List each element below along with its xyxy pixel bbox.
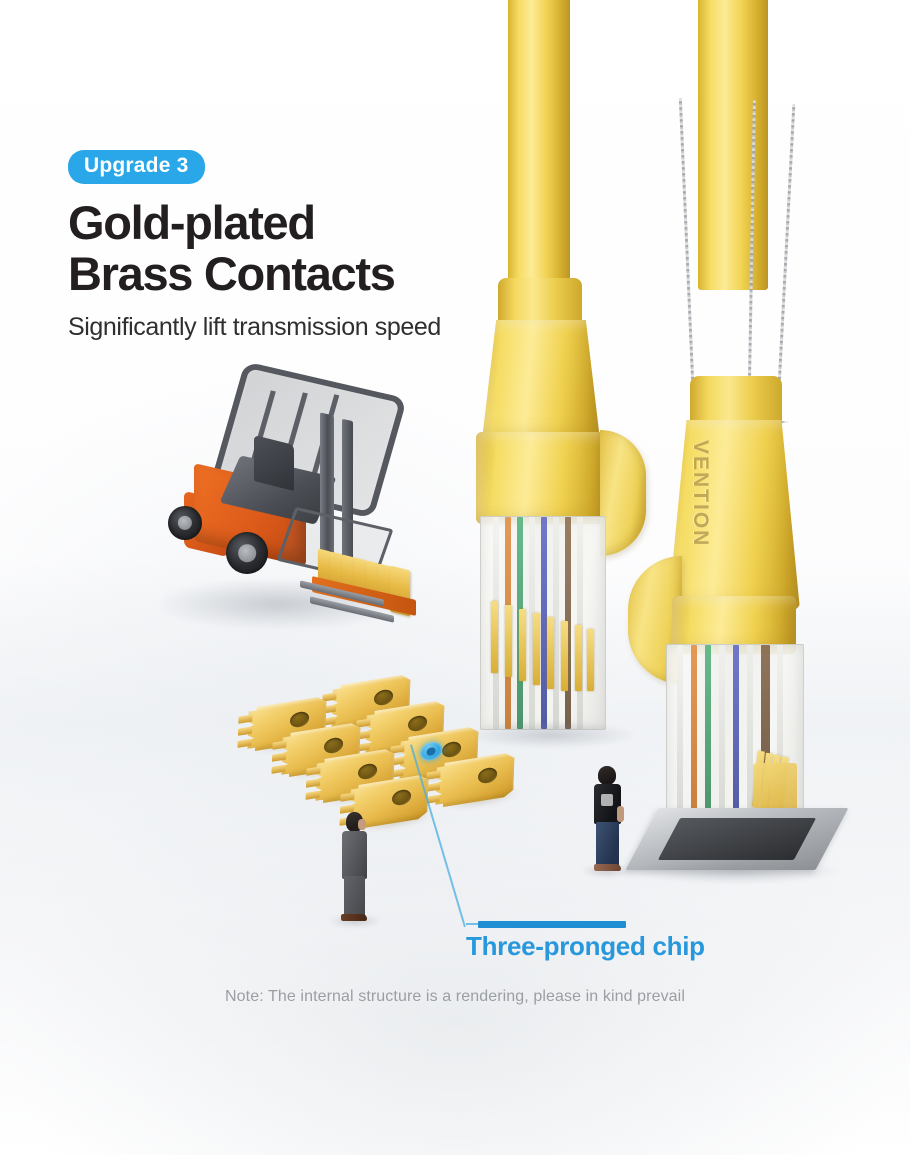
product-marketing-image: VENTION xyxy=(0,0,910,1155)
person-torso xyxy=(342,831,367,879)
callout-leader-diagonal xyxy=(410,744,466,927)
cable-right xyxy=(698,0,768,290)
forklift xyxy=(150,368,410,638)
person-legs xyxy=(344,876,365,918)
page-title: Gold-plated Brass Contacts xyxy=(68,198,548,300)
callout-label: Three-pronged chip xyxy=(466,931,705,962)
wire-pair-3a xyxy=(733,645,739,835)
wire-pair-4b xyxy=(577,517,583,729)
gold-contact-1 xyxy=(491,601,498,673)
disclaimer-note: Note: The internal structure is a render… xyxy=(0,988,910,1006)
vention-brand-text: VENTION xyxy=(688,440,712,547)
gold-contact-4 xyxy=(533,613,540,685)
gold-contact-8 xyxy=(587,629,594,691)
person-grey-suit xyxy=(333,812,375,924)
title-line-1: Gold-plated xyxy=(68,198,548,249)
forklift-front-wheel xyxy=(226,532,268,574)
headline-block: Upgrade 3 Gold-plated Brass Contacts Sig… xyxy=(68,150,548,342)
latch-guard-left xyxy=(600,430,646,556)
gold-contact-2 xyxy=(505,605,512,677)
plug-shell-left xyxy=(476,432,606,524)
callout-three-pronged-chip: Three-pronged chip xyxy=(400,735,730,970)
gold-contact-5 xyxy=(547,617,554,689)
person-face xyxy=(358,819,366,830)
page-subtitle: Significantly lift transmission speed xyxy=(68,313,548,342)
gold-contact-7 xyxy=(575,625,582,691)
lanyard-chain-3 xyxy=(776,104,796,424)
callout-underline-bar xyxy=(478,921,626,928)
title-line-2: Brass Contacts xyxy=(68,249,548,300)
forklift-rear-wheel xyxy=(168,506,202,540)
forklift-seat xyxy=(254,435,294,491)
gold-contact-3 xyxy=(519,609,526,681)
person-shoes xyxy=(341,914,367,921)
upgrade-badge: Upgrade 3 xyxy=(68,150,205,184)
gold-contact-6 xyxy=(561,621,568,691)
